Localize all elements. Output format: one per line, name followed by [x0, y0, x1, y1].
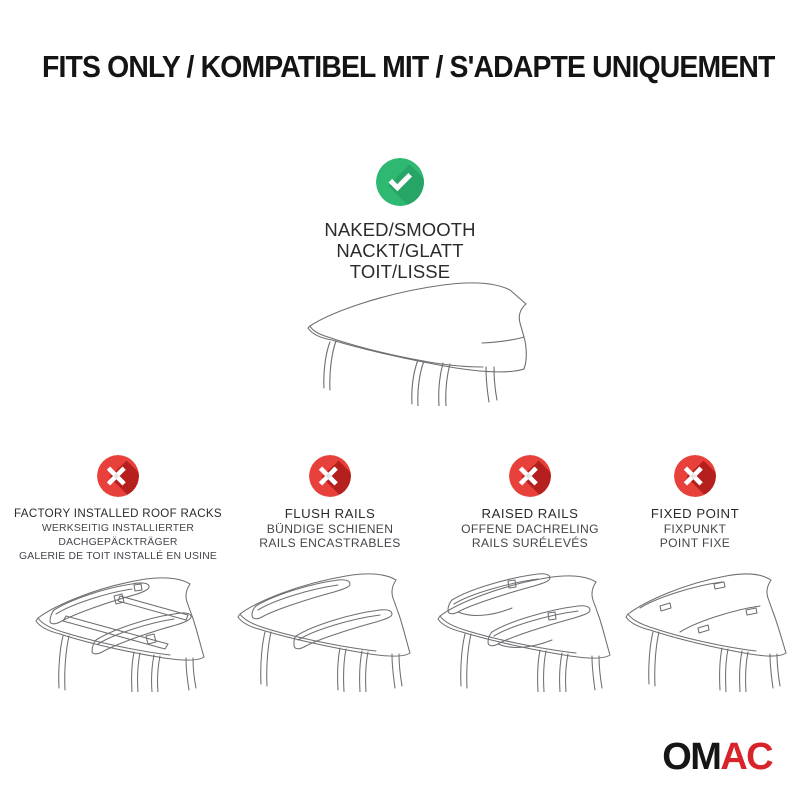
item-label-en: FIXED POINT: [600, 506, 790, 522]
incompatible-item-factory-installed-roof-racks: FACTORY INSTALLED ROOF RACKS WERKSEITIG …: [0, 455, 236, 565]
green-check-circle-icon: [376, 158, 424, 206]
item-label-de1: BÜNDIGE SCHIENEN: [225, 522, 435, 536]
item-label-de1: FIXPUNKT: [600, 522, 790, 536]
car-roof-fixed-point-drawing: [610, 552, 800, 692]
item-label-en: FLUSH RAILS: [225, 506, 435, 522]
compatibility-infographic: FITS ONLY / KOMPATIBEL MIT / S'ADAPTE UN…: [0, 0, 800, 800]
compatible-labels: NAKED/SMOOTH NACKT/GLATT TOIT/LISSE: [0, 219, 800, 282]
item-label-de1: WERKSEITIG INSTALLIERTER: [0, 522, 236, 536]
red-x-circle-icon: [674, 455, 716, 497]
brand-logo-omac: OMAC: [662, 738, 772, 776]
compatible-label-de: NACKT/GLATT: [0, 240, 800, 261]
red-x-circle-icon: [97, 455, 139, 497]
item-labels: FLUSH RAILS BÜNDIGE SCHIENEN RAILS ENCAS…: [225, 506, 435, 550]
incompatible-item-flush-rails: FLUSH RAILS BÜNDIGE SCHIENEN RAILS ENCAS…: [225, 455, 435, 550]
red-x-circle-icon: [309, 455, 351, 497]
item-label-fr: POINT FIXE: [600, 536, 790, 550]
item-label-en: FACTORY INSTALLED ROOF RACKS: [0, 506, 236, 522]
item-label-de2: DACHGEPÄCKTRÄGER: [0, 536, 236, 550]
brand-logo-part2: AC: [720, 736, 772, 778]
red-x-circle-icon: [509, 455, 551, 497]
brand-logo-part1: OM: [662, 736, 720, 778]
car-roof-smooth-drawing: [268, 278, 568, 406]
car-roof-raised-rails-drawing: [422, 552, 637, 692]
compatible-label-en: NAKED/SMOOTH: [0, 219, 800, 240]
incompatible-item-fixed-point: FIXED POINT FIXPUNKT POINT FIXE: [600, 455, 790, 550]
page-title: FITS ONLY / KOMPATIBEL MIT / S'ADAPTE UN…: [42, 50, 721, 85]
compatible-section: NAKED/SMOOTH NACKT/GLATT TOIT/LISSE: [0, 158, 800, 282]
item-labels: FIXED POINT FIXPUNKT POINT FIXE: [600, 506, 790, 550]
car-roof-flush-rails-drawing: [222, 552, 437, 692]
car-roof-with-crossbars-drawing: [8, 552, 228, 692]
item-label-fr: RAILS ENCASTRABLES: [225, 536, 435, 550]
